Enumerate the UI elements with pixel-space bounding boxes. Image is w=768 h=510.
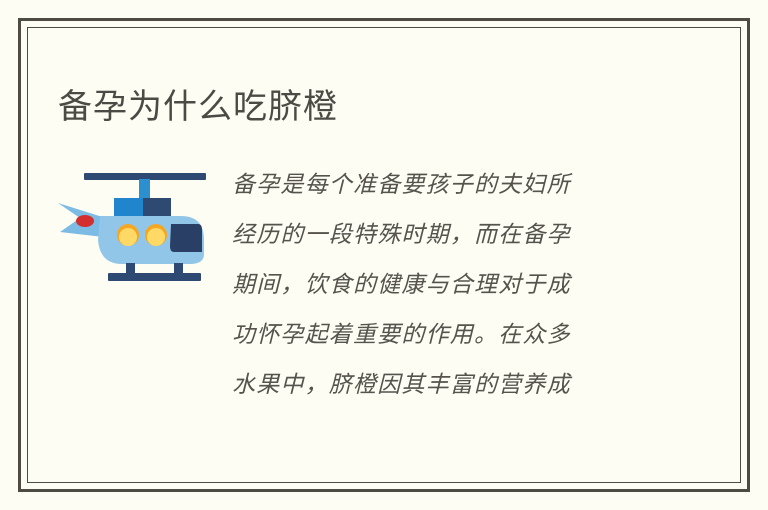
- page-title: 备孕为什么吃脐橙: [58, 85, 338, 129]
- cabin-window-rear-glass: [119, 228, 137, 246]
- cabin-window-front-glass: [147, 228, 165, 246]
- landing-skid: [108, 273, 201, 281]
- helicopter-icon: [52, 160, 217, 285]
- body-line: 期间，饮食的健康与合理对于成: [232, 260, 652, 310]
- body-line: 水果中，脐橙因其丰富的营养成: [232, 360, 652, 410]
- body-line: 功怀孕起着重要的作用。在众多: [232, 310, 652, 360]
- article-card: 备孕为什么吃脐橙: [0, 0, 768, 510]
- engine-housing-right: [143, 198, 171, 216]
- tail-light: [76, 215, 94, 227]
- article-body: 备孕是每个准备要孩子的夫妇所 经历的一段特殊时期，而在备孕 期间，饮食的健康与合…: [232, 160, 652, 410]
- main-rotor-blade: [84, 173, 206, 180]
- body-line: 经历的一段特殊时期，而在备孕: [232, 210, 652, 260]
- helicopter-illustration: [52, 160, 217, 285]
- body-line: 备孕是每个准备要孩子的夫妇所: [232, 160, 652, 210]
- cockpit-windshield: [170, 224, 202, 252]
- rotor-mast: [139, 179, 150, 201]
